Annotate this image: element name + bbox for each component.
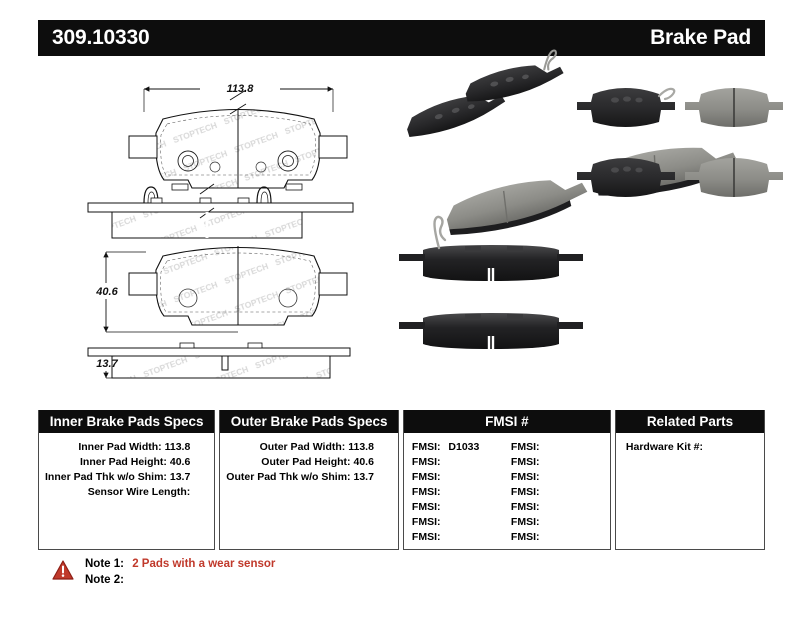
- fmsi-label: FMSI:: [511, 486, 540, 498]
- fmsi-value: [540, 516, 545, 528]
- spec-row: Inner Pad Thk w/o Shim: 13.7: [45, 470, 208, 485]
- spec-row: Outer Pad Width: 113.8: [226, 440, 392, 455]
- brake-pad-angled-photo: [403, 50, 742, 243]
- fmsi-value: [441, 471, 446, 483]
- fmsi-header: FMSI #: [404, 410, 610, 433]
- fmsi-right-subcolumn: FMSI: FMSI: FMSI: FMSI: FMSI:: [511, 440, 610, 545]
- fmsi-label: FMSI:: [511, 531, 540, 543]
- spec-label: Inner Pad Thk w/o Shim:: [45, 471, 167, 483]
- pad-edge-view-with-clips: [88, 184, 353, 238]
- fmsi-value: [540, 441, 545, 453]
- technical-drawing-group: STOPTECH 113.8: [88, 64, 378, 394]
- fmsi-label: FMSI:: [412, 471, 441, 483]
- spec-value: 113.8: [348, 441, 374, 453]
- spec-row: Inner Pad Width: 113.8: [45, 440, 208, 455]
- fmsi-row: FMSI:: [412, 455, 511, 470]
- fmsi-row: FMSI:: [412, 515, 511, 530]
- related-parts-label: Hardware Kit #:: [626, 441, 703, 453]
- fmsi-row: FMSI:: [511, 500, 610, 515]
- outer-specs-header: Outer Brake Pads Specs: [220, 410, 398, 433]
- spec-value: 13.7: [353, 471, 373, 483]
- note-label: Note 2:: [85, 574, 124, 586]
- fmsi-value: [540, 531, 545, 543]
- spec-label: Inner Pad Height:: [80, 456, 167, 468]
- pad-edge-view-thin: [88, 343, 350, 378]
- technical-drawing-svg: STOPTECH 113.8: [88, 64, 378, 394]
- spec-value: 40.6: [170, 456, 190, 468]
- fmsi-value: [441, 456, 446, 468]
- fmsi-label: FMSI:: [412, 516, 441, 528]
- related-parts-column: Related Parts Hardware Kit #:: [615, 410, 765, 550]
- fmsi-row: FMSI:: [511, 470, 610, 485]
- fmsi-label: FMSI:: [511, 441, 540, 453]
- fmsi-value: [441, 516, 446, 528]
- inner-pad-specs-column: Inner Brake Pads Specs Inner Pad Width: …: [38, 410, 215, 550]
- fmsi-label: FMSI:: [511, 456, 540, 468]
- outer-pad-specs-column: Outer Brake Pads Specs Outer Pad Width: …: [219, 410, 399, 550]
- product-photo-svg: [385, 64, 780, 394]
- illustration-area: STOPTECH 113.8: [0, 60, 800, 400]
- fmsi-row: FMSI: D1033: [412, 440, 511, 455]
- part-number: 309.10330: [52, 26, 149, 50]
- fmsi-row: FMSI:: [511, 530, 610, 545]
- note-line: Note 2:: [85, 572, 275, 588]
- fmsi-column: FMSI # FMSI: D1033 FMSI: FMSI: FMSI:: [403, 410, 611, 550]
- spec-label: Outer Pad Width:: [260, 441, 346, 453]
- brake-pad-edge-photo: [399, 217, 583, 350]
- fmsi-label: FMSI:: [412, 501, 441, 513]
- fmsi-label: FMSI:: [412, 456, 441, 468]
- related-parts-row: Hardware Kit #:: [616, 433, 764, 455]
- note-value: [124, 574, 129, 586]
- pad-face-top-view: [129, 90, 347, 190]
- note-label: Note 1:: [85, 558, 124, 570]
- fmsi-value: [441, 501, 446, 513]
- fmsi-row: FMSI:: [511, 485, 610, 500]
- fmsi-value: [441, 531, 446, 543]
- width-dimension: 113.8: [144, 80, 333, 112]
- spec-value: 13.7: [170, 471, 190, 483]
- fmsi-value: D1033: [443, 441, 479, 453]
- fmsi-label: FMSI:: [412, 486, 441, 498]
- fmsi-label: FMSI:: [412, 531, 441, 543]
- spec-label: Outer Pad Height:: [261, 456, 350, 468]
- spec-row: Outer Pad Thk w/o Shim: 13.7: [226, 470, 392, 485]
- fmsi-label: FMSI:: [511, 516, 540, 528]
- fmsi-value: [540, 501, 545, 513]
- fmsi-value: [540, 486, 545, 498]
- fmsi-label: FMSI:: [412, 441, 441, 453]
- warning-triangle-icon: [52, 560, 74, 580]
- spec-value: 40.6: [353, 456, 373, 468]
- fmsi-value: [441, 486, 446, 498]
- inner-specs-header: Inner Brake Pads Specs: [39, 410, 214, 433]
- fmsi-row: FMSI:: [412, 500, 511, 515]
- spec-value: 113.8: [165, 441, 191, 453]
- fmsi-value: [540, 471, 545, 483]
- product-photo-group: [385, 64, 780, 394]
- note-value: 2 Pads with a wear sensor: [127, 558, 275, 570]
- spec-label: Outer Pad Thk w/o Shim:: [226, 471, 350, 483]
- fmsi-row: FMSI:: [511, 455, 610, 470]
- fmsi-row: FMSI:: [412, 485, 511, 500]
- spec-row: Inner Pad Height: 40.6: [45, 455, 208, 470]
- fmsi-value: [540, 456, 545, 468]
- related-parts-header: Related Parts: [616, 410, 764, 433]
- fmsi-label: FMSI:: [511, 501, 540, 513]
- fmsi-row: FMSI:: [511, 440, 610, 455]
- spec-row: Outer Pad Height: 40.6: [226, 455, 392, 470]
- fmsi-label: FMSI:: [511, 471, 540, 483]
- specifications-table: Inner Brake Pads Specs Inner Pad Width: …: [38, 410, 765, 550]
- product-type: Brake Pad: [650, 26, 751, 50]
- spec-label: Sensor Wire Length:: [88, 486, 191, 498]
- fmsi-row: FMSI:: [412, 530, 511, 545]
- spec-label: Inner Pad Width:: [78, 441, 161, 453]
- fmsi-left-subcolumn: FMSI: D1033 FMSI: FMSI: FMSI: FMSI:: [412, 440, 511, 545]
- height-dimension-label: 40.6: [95, 286, 118, 298]
- note-line: Note 1: 2 Pads with a wear sensor: [85, 556, 275, 572]
- fmsi-row: FMSI:: [412, 470, 511, 485]
- pad-face-bottom-view: [129, 246, 347, 325]
- pad-specs-columns: Inner Brake Pads Specs Inner Pad Width: …: [38, 410, 399, 550]
- title-bar: 309.10330 Brake Pad: [38, 20, 765, 56]
- spec-row: Sensor Wire Length:: [45, 485, 208, 500]
- fmsi-row: FMSI:: [511, 515, 610, 530]
- notes-section: Note 1: 2 Pads with a wear sensor Note 2…: [52, 556, 275, 588]
